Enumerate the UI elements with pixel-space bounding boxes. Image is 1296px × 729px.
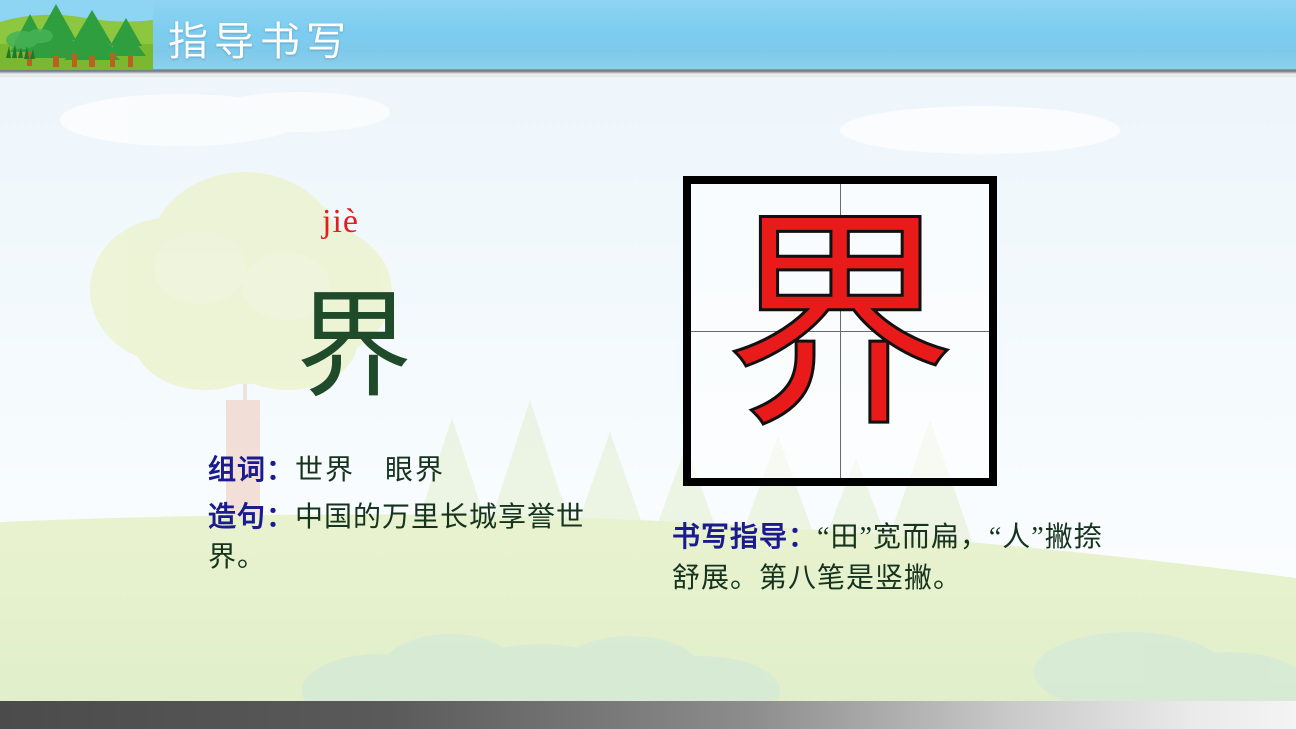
sentence-row: 造句：中国的万里长城享誉世界。 [208,498,598,578]
background-scenery [0,0,1296,729]
header-logo-forest [0,0,153,69]
display-character: 界 [296,290,412,406]
word-formation-label: 组词： [208,455,295,486]
page-title: 指导书写 [168,9,352,67]
sentence-label: 造句： [208,502,295,533]
slide-root: 指导书写 jiè 界 组词：世界 眼界 造句：中国的万里长城享誉世界。 界 书写… [0,0,1296,729]
writing-guide-label: 书写指导： [672,522,817,553]
forest-icon [0,0,153,69]
bottom-bar [0,701,1296,729]
grid-character: 界 [691,184,989,478]
writing-guide-row: 书写指导：“田”宽而扁，“人”撇捺舒展。第八笔是竖撇。 [672,518,1112,599]
word-formation-value: 世界 眼界 [295,455,445,486]
tianzige-grid: 界 [683,176,997,486]
word-formation-row: 组词：世界 眼界 [208,448,445,488]
header-divider [0,69,1296,78]
pinyin-label: jiè [322,203,359,241]
